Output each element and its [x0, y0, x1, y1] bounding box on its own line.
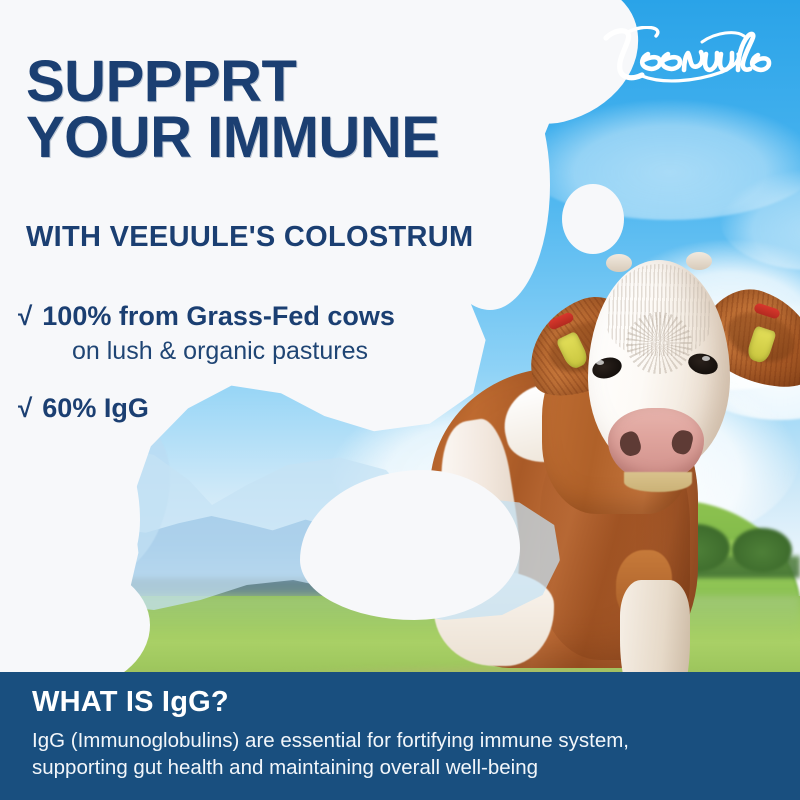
cow-eye-highlight-left	[596, 360, 604, 365]
what-is-igg-banner: WHAT IS IgG? IgG (Immunoglobulins) are e…	[0, 672, 800, 800]
subheading: WITH VEEUULE'S COLOSTRUM	[26, 221, 473, 254]
cow-mouth	[624, 472, 692, 492]
banner-body-line-1: IgG (Immunoglobulins) are essential for …	[32, 727, 777, 754]
check-icon: √	[18, 303, 32, 330]
check-icon: √	[18, 395, 32, 422]
page-title: SUPPPRT YOUR IMMUNE	[26, 54, 546, 165]
cow-hair-swirl	[626, 312, 692, 374]
list-item: √ 100% from Grass-Fed cows	[18, 302, 488, 332]
cow-eye-highlight-right	[702, 356, 710, 361]
cow-horn-nub-left	[606, 254, 632, 272]
banner-title: WHAT IS IgG?	[32, 686, 229, 719]
logo-script-wordmark-icon	[598, 26, 778, 88]
veenuule-logo[interactable]	[598, 26, 778, 88]
banner-body-line-2: supporting gut health and maintaining ov…	[32, 754, 777, 781]
headline-line-2: YOUR IMMUNE	[26, 110, 546, 166]
colostrum-ad-creative: SUPPPRT YOUR IMMUNE WITH VEEUULE'S COLOS…	[0, 0, 800, 800]
headline-line-1: SUPPPRT	[26, 54, 546, 110]
list-item: √ 60% IgG	[18, 394, 488, 424]
benefits-list: √ 100% from Grass-Fed cows on lush & org…	[18, 302, 488, 423]
spacer	[18, 366, 488, 394]
benefit-subtext: on lush & organic pastures	[72, 337, 488, 366]
cow-white-patch	[434, 570, 554, 666]
cow-horn-nub-right	[686, 252, 712, 270]
banner-body: IgG (Immunoglobulins) are essential for …	[32, 727, 777, 782]
benefit-text: 60% IgG	[42, 394, 149, 424]
benefit-text: 100% from Grass-Fed cows	[42, 302, 395, 332]
